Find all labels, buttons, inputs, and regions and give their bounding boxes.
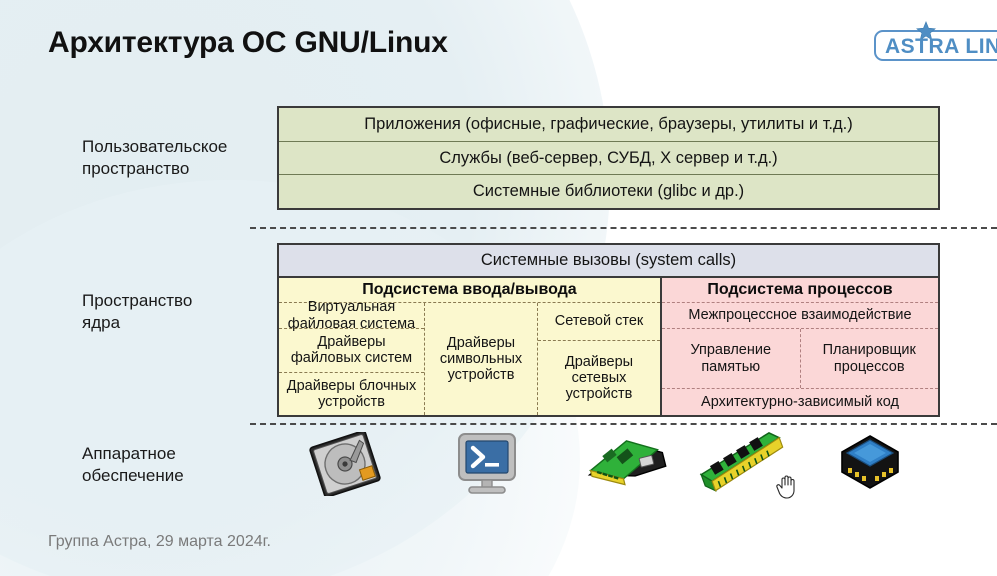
separator-user-kernel <box>250 227 997 229</box>
network-card-icon <box>580 432 670 496</box>
process-arch-code-cell: Архитектурно-зависимый код <box>662 389 938 415</box>
logo-text: ASTRA LINUX <box>885 35 997 59</box>
process-scheduler-cell: Планировщик процессов <box>801 329 939 388</box>
zone-label-hardware: Аппаратное обеспечение <box>82 443 184 488</box>
io-net-stack-cell: Сетевой стек <box>538 303 660 341</box>
footer-text: Группа Астра, 29 марта 2024г. <box>48 533 271 551</box>
io-vfs-cell: Виртуальная файловая система <box>279 303 424 329</box>
process-subsystem-header: Подсистема процессов <box>662 278 938 303</box>
io-char-drivers-cell: Драйверы символьных устройств <box>425 303 537 415</box>
zone-label-kernel-space: Пространство ядра <box>82 290 192 335</box>
process-mid-row: Управление памятью Планировщик процессов <box>662 329 938 389</box>
page-title: Архитектура ОС GNU/Linux <box>48 26 448 60</box>
process-subsystem: Подсистема процессов Межпроцессное взаим… <box>662 278 938 415</box>
io-column-filesystem: Виртуальная файловая система Драйверы фа… <box>279 303 425 415</box>
hard-disk-icon <box>307 432 383 496</box>
user-layer-system-libraries: Системные библиотеки (glibc и др.) <box>279 175 938 208</box>
io-column-network: Сетевой стек Драйверы сетевых устройств <box>538 303 660 415</box>
user-space-stack: Приложения (офисные, графические, браузе… <box>277 106 940 210</box>
hardware-icon-row <box>277 432 940 504</box>
io-column-char: Драйверы символьных устройств <box>425 303 538 415</box>
process-ipc-cell: Межпроцессное взаимодействие <box>662 303 938 329</box>
user-layer-services: Службы (веб-сервер, СУБД, X сервер и т.д… <box>279 142 938 176</box>
astra-linux-logo: ASTRA LINUX <box>874 21 997 61</box>
kernel-space-stack: Системные вызовы (system calls) Подсисте… <box>277 243 940 417</box>
io-fs-drivers-cell: Драйверы файловых систем <box>279 329 424 373</box>
monitor-terminal-icon <box>449 432 525 496</box>
ram-module-icon <box>694 432 790 496</box>
process-memory-cell: Управление памятью <box>662 329 801 388</box>
io-net-drivers-cell: Драйверы сетевых устройств <box>538 341 660 415</box>
io-block-drivers-cell: Драйверы блочных устройств <box>279 373 424 416</box>
kernel-syscalls-layer: Системные вызовы (system calls) <box>279 245 938 278</box>
separator-kernel-hardware <box>250 423 997 425</box>
zone-label-user-space: Пользовательское пространство <box>82 136 227 181</box>
kernel-columns: Подсистема ввода/вывода Виртуальная файл… <box>279 278 938 415</box>
user-layer-applications: Приложения (офисные, графические, браузе… <box>279 108 938 142</box>
io-subsystem: Подсистема ввода/вывода Виртуальная файл… <box>279 278 662 415</box>
io-subsystem-body: Виртуальная файловая система Драйверы фа… <box>279 303 660 415</box>
cpu-chip-icon <box>837 432 903 496</box>
